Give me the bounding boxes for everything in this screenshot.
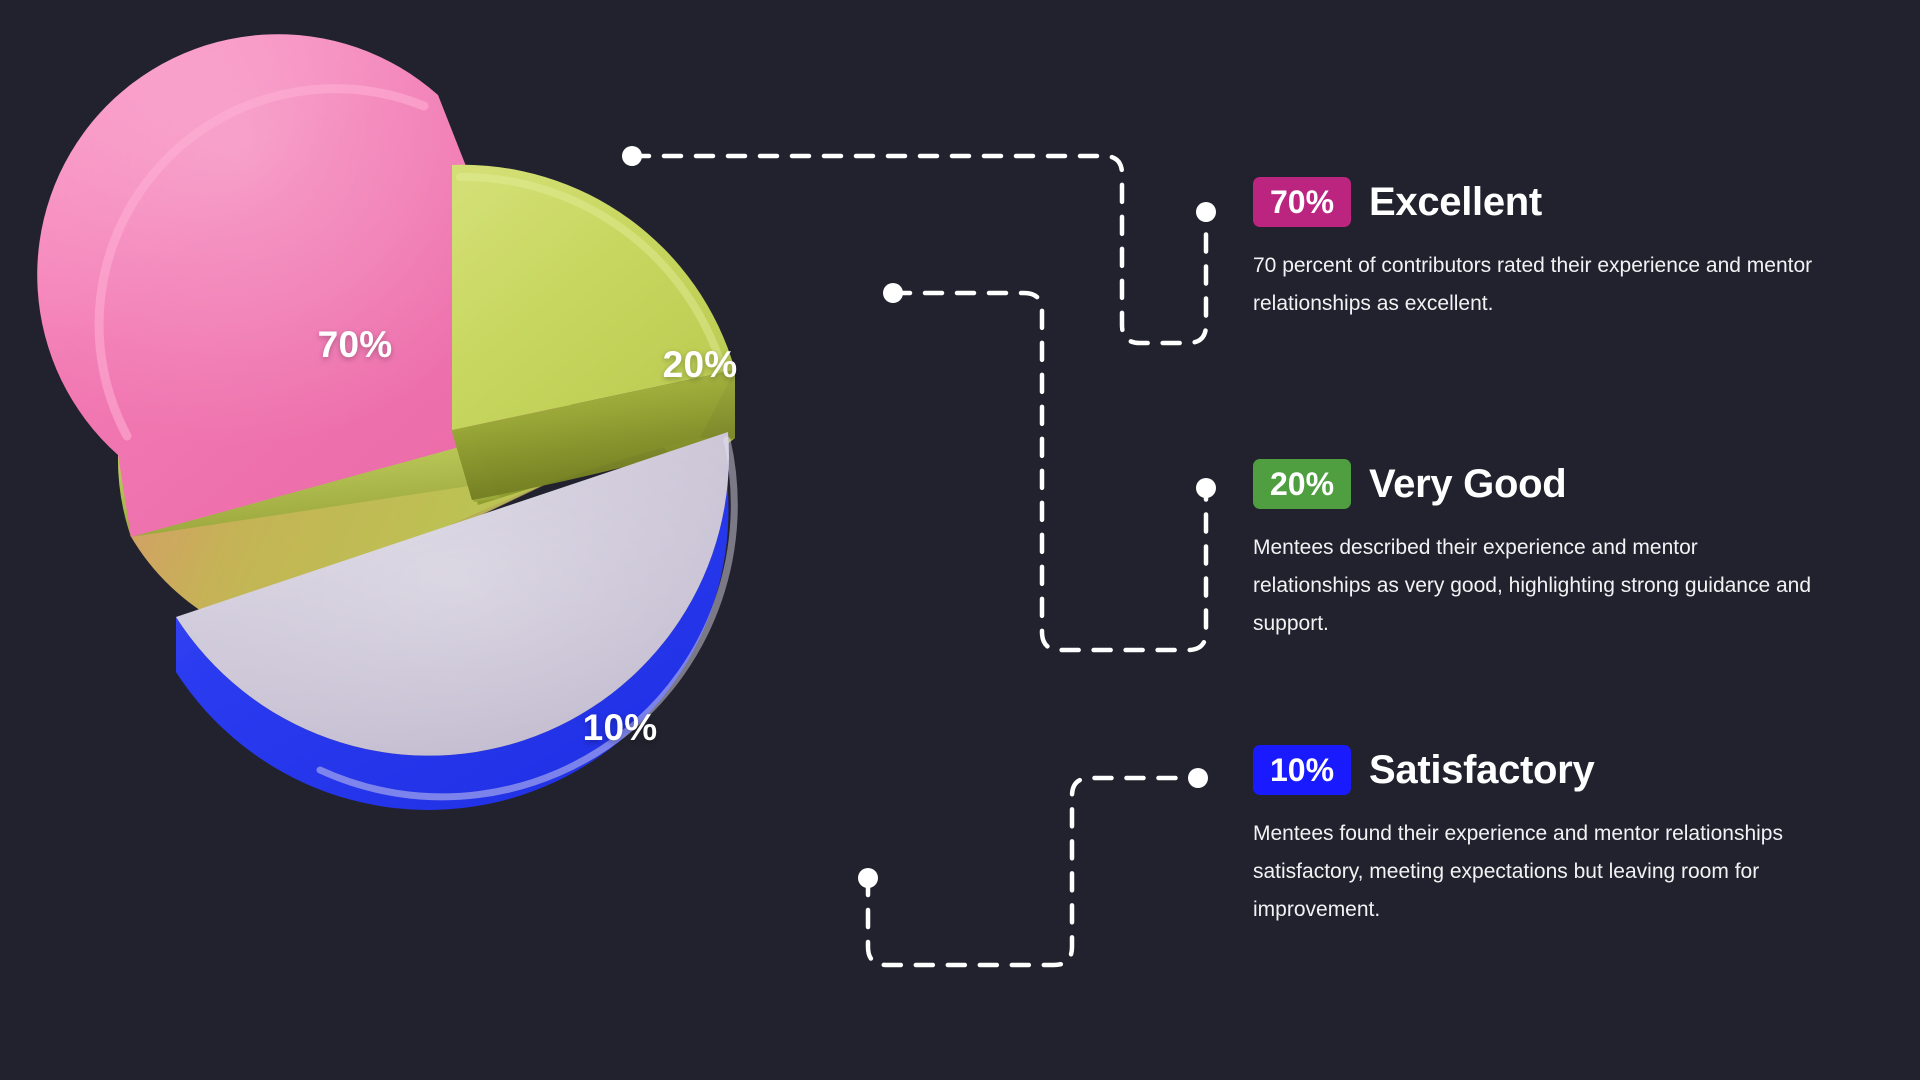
infographic-canvas: 70% 20% 10% 70% Excellent 70 percent of … <box>0 0 1920 1080</box>
connector-satisfactory <box>858 768 1208 965</box>
legend-title-satisfactory: Satisfactory <box>1369 750 1594 790</box>
legend-title-excellent: Excellent <box>1369 182 1542 222</box>
connector-dot-start-excellent <box>622 146 642 166</box>
legend-badge-satisfactory: 10% <box>1253 745 1351 795</box>
legend-badge-very-good: 20% <box>1253 459 1351 509</box>
legend-head-excellent: 70% Excellent <box>1253 177 1813 227</box>
legend-badge-excellent: 70% <box>1253 177 1351 227</box>
connector-excellent <box>622 146 1216 343</box>
legend-description-satisfactory: Mentees found their experience and mento… <box>1253 815 1813 929</box>
legend-description-very-good: Mentees described their experience and m… <box>1253 529 1813 643</box>
legend-title-very-good: Very Good <box>1369 464 1566 504</box>
legend-item-satisfactory[interactable]: 10% Satisfactory Mentees found their exp… <box>1253 745 1813 929</box>
connector-dot-start-satisfactory <box>858 868 878 888</box>
legend-description-excellent: 70 percent of contributors rated their e… <box>1253 247 1813 323</box>
connector-dot-start-very-good <box>883 283 903 303</box>
connector-dot-end-excellent <box>1196 202 1216 222</box>
legend-item-very-good[interactable]: 20% Very Good Mentees described their ex… <box>1253 459 1813 643</box>
legend-item-excellent[interactable]: 70% Excellent 70 percent of contributors… <box>1253 177 1813 323</box>
connector-very-good <box>883 283 1216 650</box>
legend-head-satisfactory: 10% Satisfactory <box>1253 745 1813 795</box>
connector-dot-end-satisfactory <box>1188 768 1208 788</box>
connector-dot-end-very-good <box>1196 478 1216 498</box>
legend-head-very-good: 20% Very Good <box>1253 459 1813 509</box>
